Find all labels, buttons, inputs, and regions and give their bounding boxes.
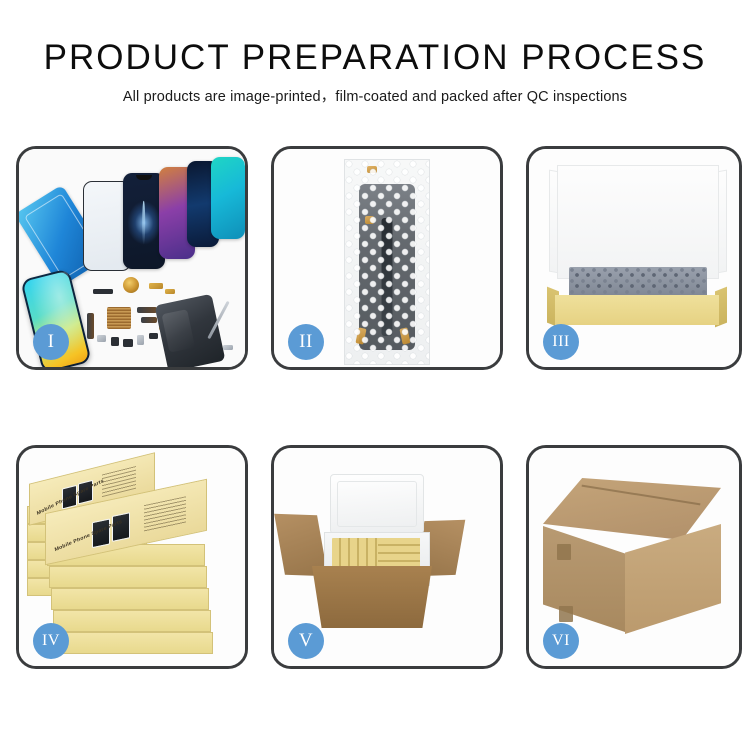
step-badge-3: III <box>543 324 579 360</box>
step-panel-6[interactable]: VI <box>526 445 742 669</box>
step-panel-1[interactable]: I <box>16 146 248 370</box>
step-panel-3[interactable]: III <box>526 146 742 370</box>
process-row-bottom: Mobile Phone Spare Parts <box>0 445 750 669</box>
process-row-top: I II <box>0 146 750 370</box>
page-subtitle: All products are image-printed，film-coat… <box>0 87 750 107</box>
step-badge-5: V <box>288 623 324 659</box>
step-badge-1: I <box>33 324 69 360</box>
step-panel-2[interactable]: II <box>271 146 503 370</box>
step-panel-4[interactable]: Mobile Phone Spare Parts <box>16 445 248 669</box>
page-title: PRODUCT PREPARATION PROCESS <box>0 38 750 78</box>
step-panel-5[interactable]: V <box>271 445 503 669</box>
step-badge-4: IV <box>33 623 69 659</box>
process-steps-grid: I II <box>0 146 750 744</box>
step-badge-2: II <box>288 324 324 360</box>
step-badge-6: VI <box>543 623 579 659</box>
page-header: PRODUCT PREPARATION PROCESS All products… <box>0 0 750 107</box>
